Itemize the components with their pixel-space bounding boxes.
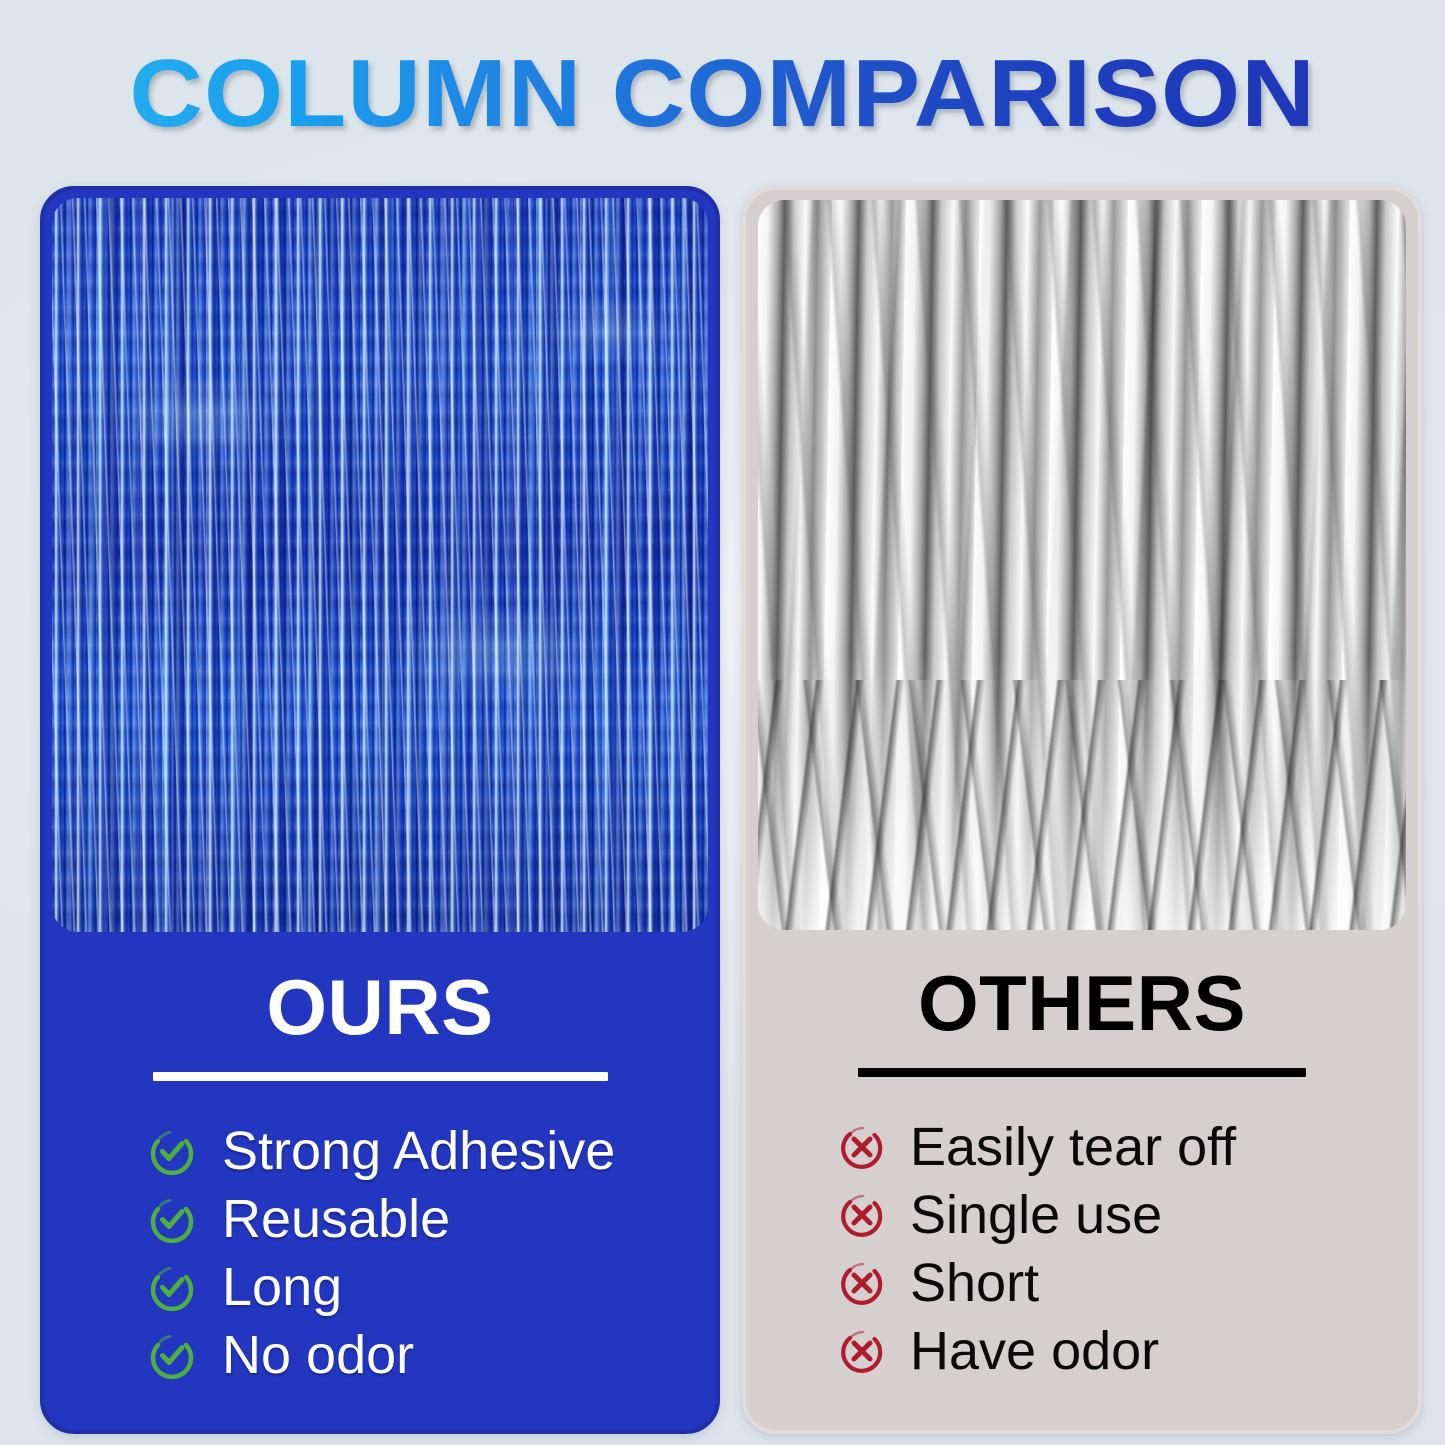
feature-label: Single use bbox=[910, 1188, 1162, 1242]
feature-label: Have odor bbox=[910, 1324, 1159, 1378]
check-circle-icon bbox=[148, 1195, 196, 1243]
page-title-container: COLUMN COMPARISON bbox=[0, 38, 1445, 150]
list-item: No odor bbox=[80, 1321, 680, 1389]
ours-divider bbox=[153, 1072, 608, 1081]
list-item: Long bbox=[80, 1253, 680, 1321]
others-panel: OTHERS Easily tear off bbox=[746, 930, 1418, 1426]
others-feature-list: Easily tear off Single use bbox=[782, 1113, 1382, 1385]
feature-label: Reusable bbox=[222, 1192, 450, 1246]
list-item: Short bbox=[782, 1249, 1382, 1317]
list-item: Have odor bbox=[782, 1317, 1382, 1385]
ours-feature-list: Strong Adhesive Reusable bbox=[80, 1117, 680, 1389]
cross-circle-icon bbox=[838, 1191, 886, 1239]
feature-label: Strong Adhesive bbox=[222, 1124, 615, 1178]
check-circle-icon bbox=[148, 1127, 196, 1175]
others-heading: OTHERS bbox=[782, 964, 1382, 1042]
feature-label: Easily tear off bbox=[910, 1120, 1236, 1174]
list-item: Single use bbox=[782, 1181, 1382, 1249]
feature-label: Short bbox=[910, 1256, 1039, 1310]
check-circle-icon bbox=[148, 1263, 196, 1311]
comparison-column-ours: OURS Strong Adhesive bbox=[40, 186, 720, 1434]
blue-foil-fringe-image bbox=[52, 198, 708, 932]
cross-circle-icon bbox=[838, 1327, 886, 1375]
list-item: Reusable bbox=[80, 1185, 680, 1253]
fringe-tips-overlay bbox=[758, 680, 1406, 930]
list-item: Strong Adhesive bbox=[80, 1117, 680, 1185]
feature-label: No odor bbox=[222, 1328, 414, 1382]
page-title: COLUMN COMPARISON bbox=[129, 46, 1315, 142]
cross-circle-icon bbox=[838, 1259, 886, 1307]
others-divider bbox=[858, 1068, 1306, 1077]
product-photo-ours bbox=[52, 198, 708, 932]
feature-label: Long bbox=[222, 1260, 342, 1314]
product-photo-others bbox=[758, 200, 1406, 930]
check-circle-icon bbox=[148, 1331, 196, 1379]
comparison-column-others: OTHERS Easily tear off bbox=[742, 186, 1422, 1434]
list-item: Easily tear off bbox=[782, 1113, 1382, 1181]
cross-circle-icon bbox=[838, 1123, 886, 1171]
ours-panel: OURS Strong Adhesive bbox=[44, 934, 716, 1430]
ours-heading: OURS bbox=[80, 968, 680, 1046]
